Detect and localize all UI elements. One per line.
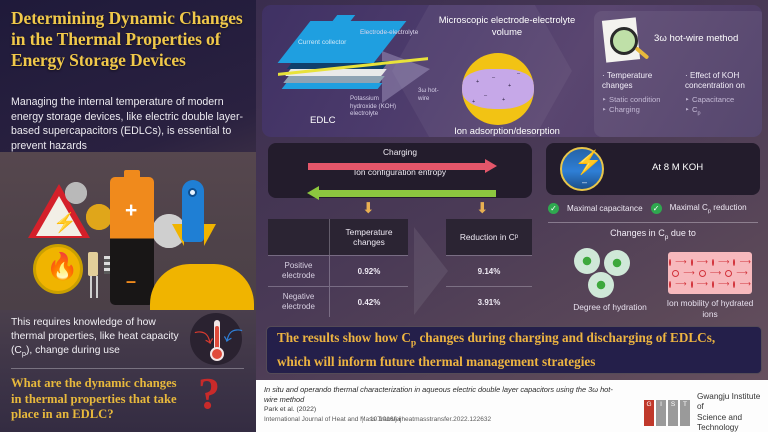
battery-minus-sign: – xyxy=(126,272,136,290)
down-arrow-icon-1: ⬇ xyxy=(362,201,375,216)
ion-marker: + xyxy=(508,83,511,89)
edlc-layer-5 xyxy=(282,83,383,89)
capacitor-icon xyxy=(88,252,98,276)
requires-text: This requires knowledge of how thermal p… xyxy=(11,316,179,361)
method-item: Static condition xyxy=(602,95,677,105)
research-question: What are the dynamic changes in thermal … xyxy=(11,376,189,423)
rocket-fin-right xyxy=(204,224,216,246)
ion-circle-icon xyxy=(733,259,735,266)
subtitle-text: Managing the internal temperature of mod… xyxy=(11,95,251,153)
ion-circle-icon xyxy=(669,259,671,266)
ion-circle-icon xyxy=(691,281,693,288)
method-columns: · Temperature changes Static condition C… xyxy=(602,71,760,118)
paper-authors: Park et al. (2022) xyxy=(264,406,316,413)
check-icon: ✓ xyxy=(651,203,662,214)
ion-arrow-icon: ⟶ xyxy=(718,280,729,288)
top-diagram-card: Current collector Electrode-electrolyte … xyxy=(262,5,762,137)
check-label-capacitance: Maximal capacitance xyxy=(567,204,643,213)
question-mark-icon: ? xyxy=(198,372,220,416)
table-cell-reduction: 9.14% xyxy=(446,255,532,286)
results-text: The results show how Cp changes during c… xyxy=(277,329,751,371)
changes-post: due to xyxy=(668,228,696,238)
gear-icon-small xyxy=(65,182,87,204)
method-head: · Effect of KOH concentration on xyxy=(685,71,760,92)
logo-letter-i: I xyxy=(656,400,666,426)
capacitor-leg-left xyxy=(90,276,92,298)
paper-doi[interactable]: 10.1016/j.ijheatmasstransfer.2022.122632 xyxy=(362,416,491,423)
rocket-smoke xyxy=(150,264,254,310)
edlc-device-diagram: Current collector Electrode-electrolyte … xyxy=(272,13,442,133)
requires-text-part-b: ), change during use xyxy=(26,345,120,356)
table-cell-reduction: 3.91% xyxy=(446,286,532,317)
charging-arrow-right xyxy=(308,163,486,170)
ion-arrow-icon: ⟶ xyxy=(739,280,750,288)
method-item: Cp xyxy=(685,105,760,119)
magnifier-icon xyxy=(610,27,638,55)
reduction-header-sub: p xyxy=(515,232,518,243)
caption-degree-of-hydration: Degree of hydration xyxy=(570,302,650,313)
battery-plus-sign: + xyxy=(125,200,137,221)
label-hot-wire: 3ω hot-wire xyxy=(418,87,442,102)
label-electrode-electrolyte: Electrode-electrolyte xyxy=(360,29,440,36)
caption-ion-mobility: Ion mobility of hydrated ions xyxy=(664,298,756,319)
right-divider xyxy=(548,222,758,223)
check-label-cp-reduction: Maximal Cp reduction xyxy=(670,203,747,215)
capacitor-leg-right xyxy=(96,276,98,298)
ion-marker: + xyxy=(472,99,475,105)
ion-mobility-illustration: ⟶ ⟶ ⟶ ⟶ ⟶ ⟶ ⟶ ⟶ ⟶ ⟶ ⟶ xyxy=(668,252,752,294)
bolt-icon: ⚡ xyxy=(574,151,603,174)
down-arrow-icon-2: ⬇ xyxy=(476,201,489,216)
koh-badge-card: – + ⚡ At 8 M KOH xyxy=(546,143,760,195)
table-header-row: Temperature changes xyxy=(268,219,408,255)
ion-marker: + xyxy=(502,97,505,103)
thermometer-bulb xyxy=(210,347,224,361)
ion-circle-icon xyxy=(669,281,671,288)
method-head-text: Temperature changes xyxy=(602,71,652,90)
label-koh-electrolyte: Potassium hydroxide (KOH) electrolyte xyxy=(350,95,406,118)
ion-arrow-icon: ⟶ xyxy=(675,280,686,288)
ion-arrow-icon: ⟶ xyxy=(683,269,694,277)
footer-citation: In situ and operando thermal characteriz… xyxy=(256,380,768,432)
method-column-koh: · Effect of KOH concentration on Capacit… xyxy=(685,71,760,118)
org-line-2: Science and Technology xyxy=(697,413,768,432)
ion-arrow-icon: ⟶ xyxy=(710,269,721,277)
edlc-layer-4 xyxy=(283,76,384,83)
hazard-illustration: ⚡ 🔥 + – xyxy=(0,152,256,310)
logo-letter-g: G xyxy=(644,400,654,426)
ion-mobility-row: ⟶ ⟶ ⟶ ⟶ xyxy=(672,280,748,288)
microscopic-volume-illustration: + – + – + – + xyxy=(462,53,534,125)
infographic-root: Determining Dynamic Changes in the Therm… xyxy=(0,0,768,432)
method-column-temperature: · Temperature changes Static condition C… xyxy=(602,71,677,118)
check-b-pre: Maximal C xyxy=(670,203,708,212)
gear-icon-gold xyxy=(86,204,112,230)
table-row-label: Positive electrode xyxy=(268,255,330,286)
method-head-text: Effect of KOH concentration on xyxy=(685,71,745,90)
charging-entropy-card: Charging Ion configuration entropy xyxy=(268,143,532,198)
ion-circle-icon xyxy=(733,281,735,288)
changes-due-to-label: Changes in Cp due to xyxy=(548,228,758,241)
check-b-post: reduction xyxy=(711,203,747,212)
hydrated-ion-icon xyxy=(604,250,630,276)
table-row: Negative electrode 0.42% xyxy=(268,286,408,317)
hydrated-ion-icon xyxy=(574,248,600,274)
lightning-bolt-icon: ⚡ xyxy=(53,214,77,233)
reduction-header-text: Reduction in C xyxy=(460,232,515,243)
label-edlc: EDLC xyxy=(310,115,336,126)
ion-circle-icon xyxy=(712,259,714,266)
logo-letter-s: S xyxy=(668,400,678,426)
ion-marker: – xyxy=(492,75,495,81)
left-column: Determining Dynamic Changes in the Therm… xyxy=(0,0,256,432)
method-head: · Temperature changes xyxy=(602,71,677,92)
koh-checks-row: ✓ Maximal capacitance ✓ Maximal Cp reduc… xyxy=(548,203,760,215)
changes-pre: Changes in C xyxy=(610,228,665,238)
ion-marker: – xyxy=(517,71,520,77)
ion-adsorption-caption: Ion adsorption/desorption xyxy=(430,125,584,136)
results-text-a: The results show how C xyxy=(277,330,411,345)
table-cell-temp: 0.92% xyxy=(330,255,408,286)
table-row-label: Negative electrode xyxy=(268,286,330,317)
ion-circle-icon xyxy=(699,270,706,277)
check-icon: ✓ xyxy=(548,203,559,214)
page-title: Determining Dynamic Changes in the Therm… xyxy=(11,8,249,71)
table-row: Positive electrode 0.92% xyxy=(268,255,408,286)
koh-badge-label: At 8 M KOH xyxy=(652,162,703,173)
paper-title: In situ and operando thermal characteriz… xyxy=(264,385,624,404)
organization-name: Gwangju Institute of Science and Technol… xyxy=(697,392,768,432)
method-item: Charging xyxy=(602,105,677,115)
ion-arrow-icon: ⟶ xyxy=(697,280,708,288)
flame-icon: 🔥 xyxy=(46,253,78,279)
ion-circle-icon xyxy=(712,281,714,288)
entropy-arrow-left xyxy=(318,190,496,197)
ion-arrow-icon: ⟶ xyxy=(739,258,750,266)
ion-circle-icon xyxy=(672,270,679,277)
microscopic-volume-title: Microscopic electrode-electrolyte volume xyxy=(432,14,582,38)
reduction-table: Reduction in Cp 9.14% 3.91% xyxy=(446,219,532,317)
hydrated-ion-icon xyxy=(588,272,614,298)
table-header-temperature: Temperature changes xyxy=(330,219,408,255)
ion-circle-icon xyxy=(691,259,693,266)
table-header-reduction: Reduction in Cp xyxy=(446,219,532,255)
label-current-collector: Current collector xyxy=(298,39,346,46)
rocket-window xyxy=(188,188,197,197)
ion-arrow-icon: ⟶ xyxy=(718,258,729,266)
table-cell-temp: 0.42% xyxy=(330,286,408,317)
ion-arrow-icon: ⟶ xyxy=(736,269,747,277)
hydration-illustration xyxy=(570,248,650,300)
results-table: Temperature changes Positive electrode 0… xyxy=(268,219,408,317)
method-item: Capacitance xyxy=(685,95,760,105)
koh-minus-sign: – xyxy=(582,177,587,187)
charging-label: Charging xyxy=(268,143,532,157)
ion-circle-icon xyxy=(725,270,732,277)
ion-mobility-row: ⟶ ⟶ ⟶ xyxy=(672,269,748,277)
results-banner: The results show how Cp changes during c… xyxy=(266,326,762,374)
ion-marker: + xyxy=(476,79,479,85)
logo-letter-t: T xyxy=(680,400,690,426)
gist-logo: G I S T Gwangju Institute of Science and… xyxy=(644,392,768,432)
ion-arrow-icon: ⟶ xyxy=(697,258,708,266)
ion-marker: – xyxy=(484,93,487,99)
lower-left-section: This requires knowledge of how thermal p… xyxy=(0,310,256,432)
table-corner-cell xyxy=(268,219,330,255)
org-line-1: Gwangju Institute of xyxy=(697,392,768,413)
ion-arrow-icon: ⟶ xyxy=(675,258,686,266)
ion-mobility-row: ⟶ ⟶ ⟶ ⟶ xyxy=(672,258,748,266)
method-card: 3ω hot-wire method · Temperature changes… xyxy=(594,11,762,137)
method-title: 3ω hot-wire method xyxy=(654,33,738,44)
gist-logo-marks: G I S T xyxy=(644,400,690,426)
chevron-right-icon xyxy=(414,227,448,315)
